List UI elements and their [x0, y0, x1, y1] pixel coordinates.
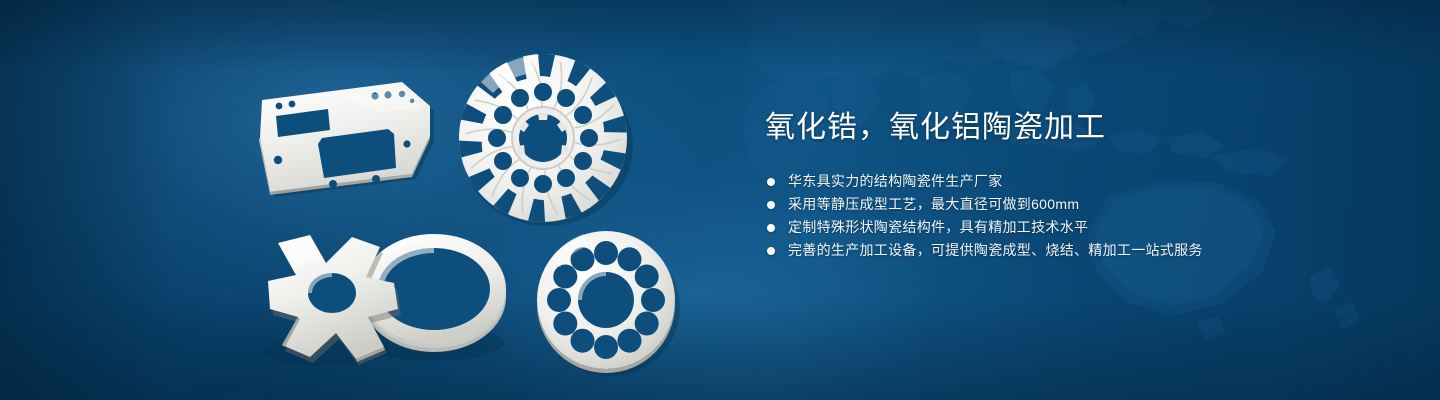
feature-text: 定制特殊形状陶瓷结构件，具有精加工技术水平 — [788, 216, 1088, 239]
feature-text: 华东具实力的结构陶瓷件生产厂家 — [788, 170, 1003, 193]
product-ceramic-machined-plate — [252, 78, 452, 210]
product-ceramic-impeller — [448, 50, 638, 230]
promo-banner: 氧化锆，氧化铝陶瓷加工 华东具实力的结构陶瓷件生产厂家 采用等静压成型工艺，最大… — [0, 0, 1440, 400]
feature-text: 完善的生产加工设备，可提供陶瓷成型、烧结、精加工一站式服务 — [788, 239, 1203, 262]
filled-circle-icon — [767, 247, 775, 255]
filled-circle-icon — [767, 224, 775, 232]
filled-circle-icon — [767, 178, 775, 186]
list-item: 完善的生产加工设备，可提供陶瓷成型、烧结、精加工一站式服务 — [767, 239, 1325, 262]
list-item: 华东具实力的结构陶瓷件生产厂家 — [767, 170, 1325, 193]
list-item: 定制特殊形状陶瓷结构件，具有精加工技术水平 — [767, 216, 1325, 239]
product-ceramic-cross-plate-and-rings — [248, 225, 518, 375]
filled-circle-icon — [767, 201, 775, 209]
product-collage — [0, 0, 740, 400]
banner-text-block: 氧化锆，氧化铝陶瓷加工 华东具实力的结构陶瓷件生产厂家 采用等静压成型工艺，最大… — [765, 108, 1325, 262]
page-title: 氧化锆，氧化铝陶瓷加工 — [765, 108, 1325, 148]
product-ceramic-holed-disc — [518, 222, 698, 382]
list-item: 采用等静压成型工艺，最大直径可做到600mm — [767, 193, 1325, 216]
feature-text: 采用等静压成型工艺，最大直径可做到600mm — [788, 193, 1079, 216]
feature-list: 华东具实力的结构陶瓷件生产厂家 采用等静压成型工艺，最大直径可做到600mm 定… — [765, 170, 1325, 262]
